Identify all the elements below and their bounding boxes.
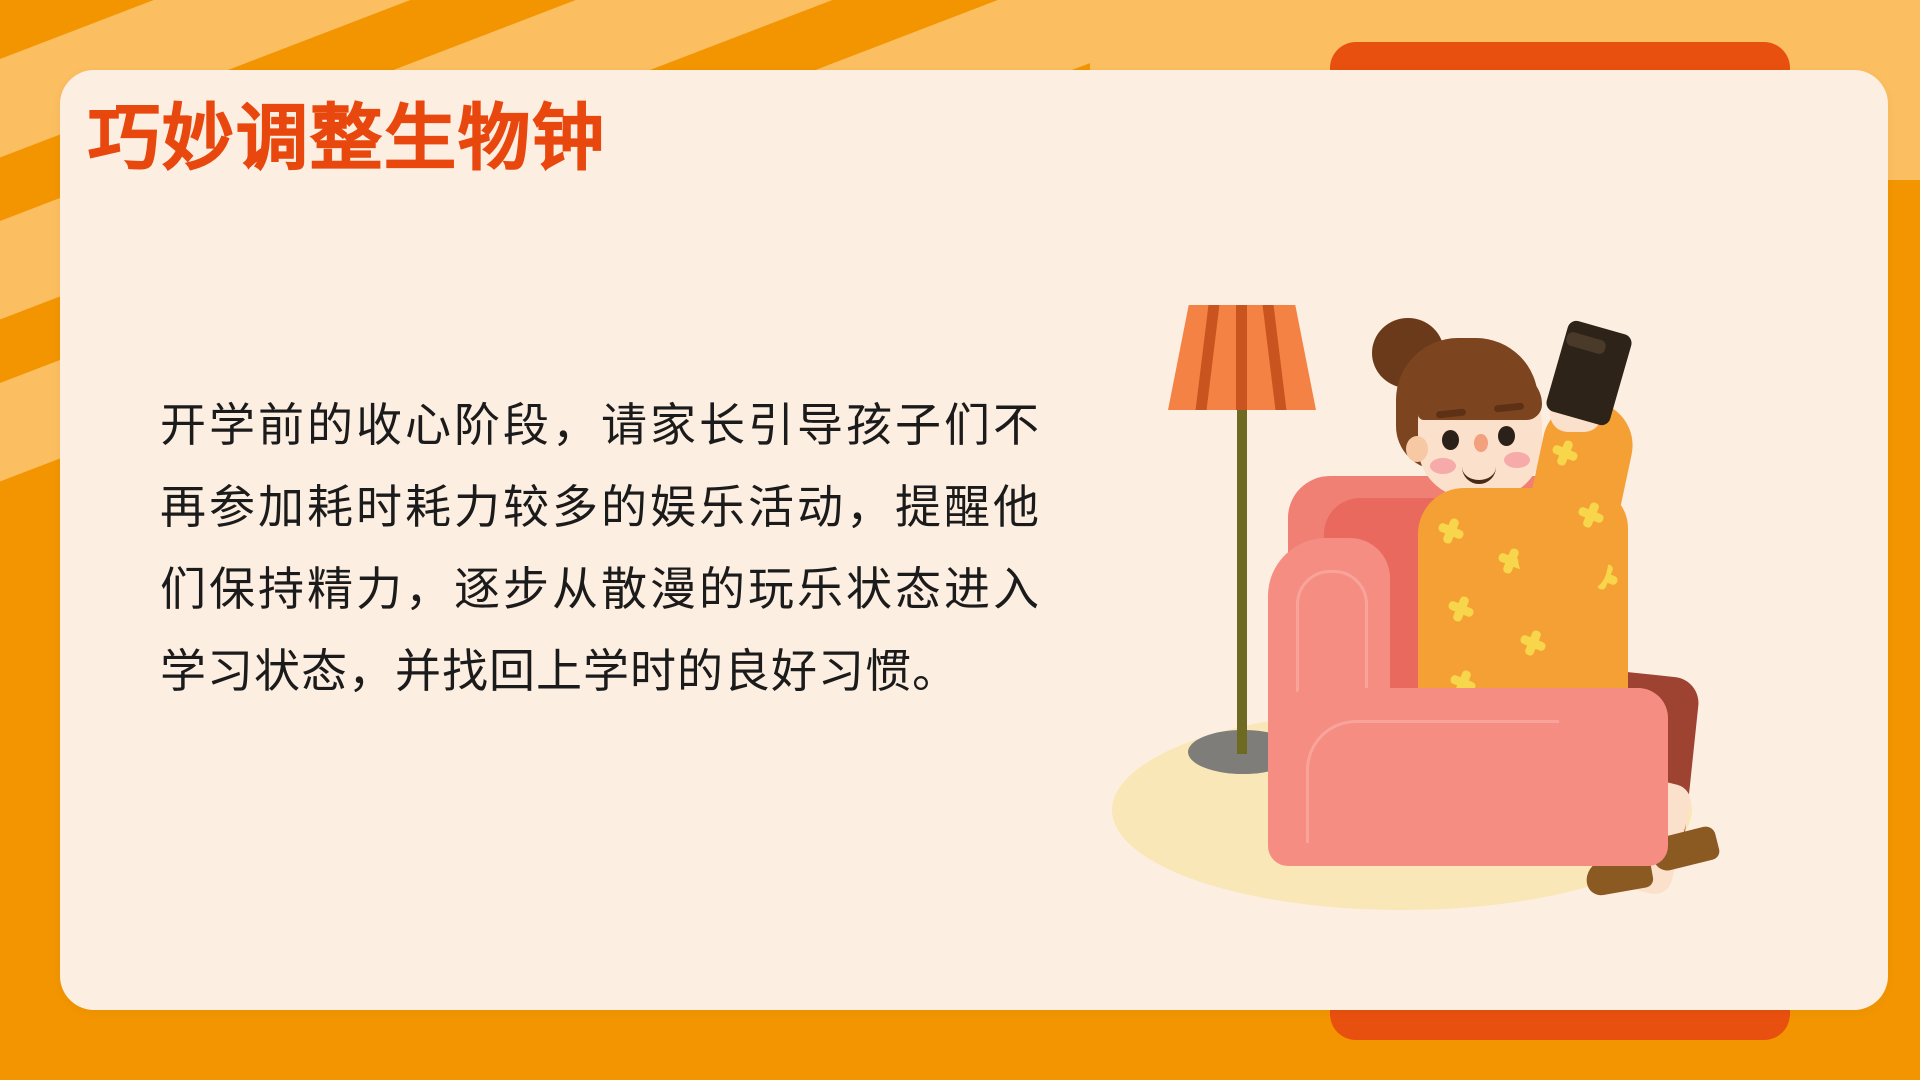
girl-cheek-right: [1504, 452, 1530, 468]
girl-ear: [1406, 436, 1428, 462]
illustration-girl-on-armchair: [1100, 280, 1740, 940]
sweater-star-9: [1552, 440, 1578, 466]
sweater-star-1: [1438, 518, 1464, 544]
smartphone-icon: [1544, 319, 1633, 428]
sweater-star-3: [1448, 596, 1474, 622]
girl-eye-right: [1498, 426, 1515, 446]
sweater-star-10: [1578, 502, 1604, 528]
lamp-shade-stripe-3: [1263, 305, 1287, 410]
body-paragraph: 开学前的收心阶段，请家长引导孩子们不再参加耗时耗力较多的娱乐活动，提醒他们保持精…: [160, 385, 1040, 713]
lamp-shade-stripe-1: [1196, 305, 1220, 410]
slide-root: 巧妙调整生物钟 开学前的收心阶段，请家长引导孩子们不再参加耗时耗力较多的娱乐活动…: [0, 0, 1920, 1080]
girl-nose: [1474, 434, 1488, 452]
page-title: 巧妙调整生物钟: [88, 103, 606, 175]
lamp-shade-stripe-2: [1236, 305, 1247, 410]
sweater-star-4: [1520, 630, 1546, 656]
lamp-shade-icon: [1168, 305, 1316, 410]
lamp-pole-icon: [1237, 402, 1247, 754]
girl-cheek-left: [1430, 458, 1456, 474]
armchair-seat-seam: [1306, 720, 1559, 843]
girl-eye-left: [1442, 430, 1459, 450]
